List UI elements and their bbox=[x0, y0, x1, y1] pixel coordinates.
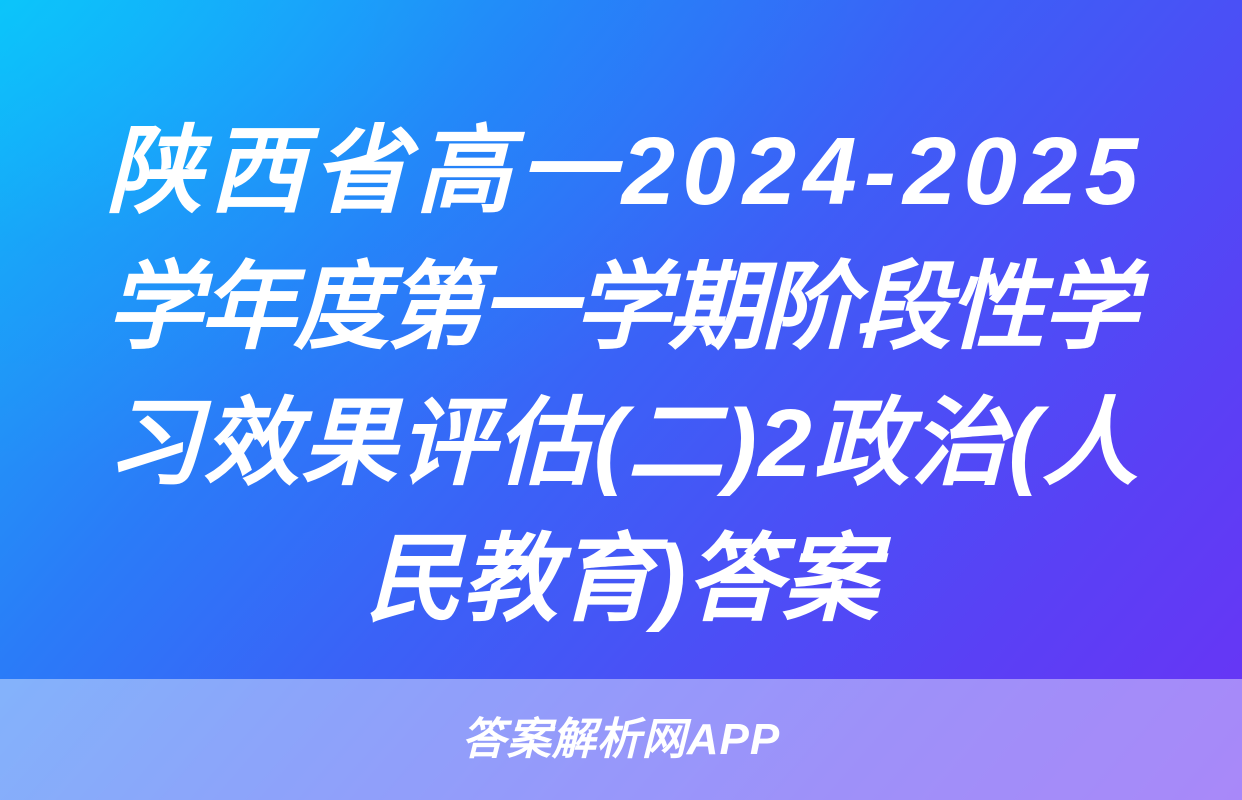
title-line-3: 习效果评估(二)2政治(人 bbox=[106, 376, 1138, 512]
title-line-2: 学年度第一学期阶段性学 bbox=[106, 240, 1138, 376]
watermark-band: 答案解析网APP bbox=[0, 679, 1242, 800]
poster-title: 陕西省高一2024-2025 学年度第一学期阶段性学 习效果评估(二)2政治(人… bbox=[106, 104, 1138, 648]
title-line-4-text: 民教育)答案 bbox=[366, 512, 878, 648]
title-line-3-text: 习效果评估(二)2政治(人 bbox=[106, 376, 1140, 512]
title-line-2-text: 学年度第一学期阶段性学 bbox=[106, 240, 1136, 376]
title-line-1-text: 陕西省高一2024-2025 bbox=[106, 104, 1145, 240]
title-line-1: 陕西省高一2024-2025 bbox=[106, 104, 1138, 240]
title-line-4: 民教育)答案 bbox=[106, 512, 1138, 648]
poster-canvas: 陕西省高一2024-2025 学年度第一学期阶段性学 习效果评估(二)2政治(人… bbox=[0, 0, 1242, 800]
watermark-label: 答案解析网APP bbox=[462, 718, 780, 762]
